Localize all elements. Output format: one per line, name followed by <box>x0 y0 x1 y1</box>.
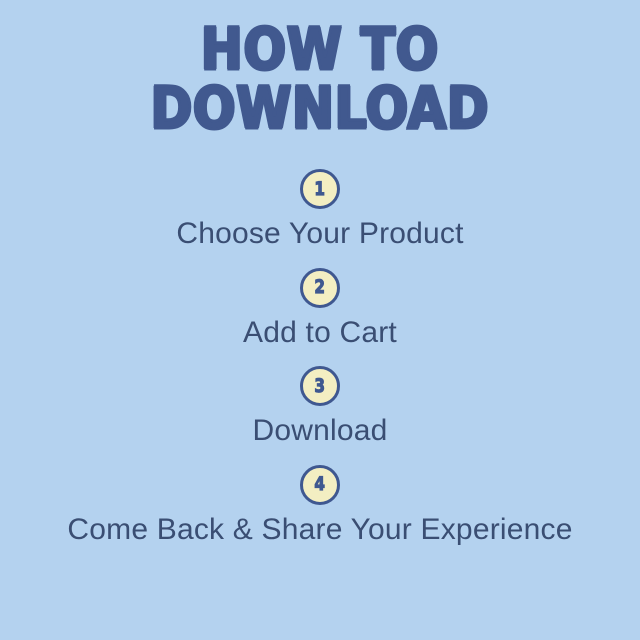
steps-list: 1 Choose Your Product 2 Add to Cart 3 Do… <box>0 169 640 563</box>
step-number-badge-3: 3 <box>300 366 340 406</box>
title-line-how-to: HOW TO <box>45 22 595 77</box>
step-item-4: 4 Come Back & Share Your Experience <box>0 465 640 548</box>
step-item-3: 3 Download <box>0 366 640 449</box>
step-label-2: Add to Cart <box>243 316 397 351</box>
step-number-3: 3 <box>315 377 326 396</box>
step-number-badge-4: 4 <box>300 465 340 505</box>
step-item-1: 1 Choose Your Product <box>0 169 640 252</box>
step-label-3: Download <box>252 414 387 449</box>
how-to-download-poster: HOW TO DOWNLOAD 1 Choose Your Product 2 … <box>0 0 640 640</box>
step-number-1: 1 <box>315 180 326 199</box>
step-label-1: Choose Your Product <box>176 217 463 252</box>
step-number-2: 2 <box>315 278 326 297</box>
step-item-2: 2 Add to Cart <box>0 268 640 351</box>
step-number-badge-1: 1 <box>300 169 340 209</box>
step-label-4: Come Back & Share Your Experience <box>67 513 572 548</box>
step-number-4: 4 <box>315 475 326 494</box>
title-line-download: DOWNLOAD <box>45 81 595 136</box>
step-number-badge-2: 2 <box>300 268 340 308</box>
poster-title: HOW TO DOWNLOAD <box>0 22 640 135</box>
